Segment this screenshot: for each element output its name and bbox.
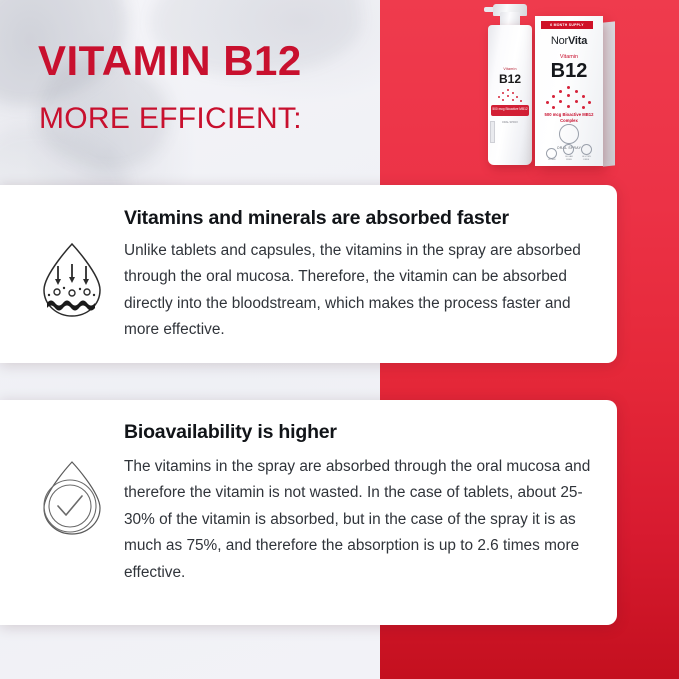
card-body-text: Unlike tablets and capsules, the vitamin…: [124, 238, 594, 344]
badge-gluten-free: GLUTEN FREE: [581, 144, 592, 163]
vegan-leaf-icon: [546, 148, 557, 159]
bottle-claim-band: 500 mcg Bioactive MB12: [491, 105, 529, 116]
card-body-text: The vitamins in the spray are absorbed t…: [124, 454, 594, 586]
infographic-canvas: VITAMIN B12 MORE EFFICIENT: Vitamin B12: [0, 0, 679, 679]
brand-logo: NorVita: [535, 35, 603, 47]
carton-strength-label: B12: [535, 61, 603, 81]
bottle-dot-pattern: [496, 89, 524, 103]
carton-dot-pattern: [545, 86, 593, 110]
sugar-free-icon: [563, 144, 574, 155]
certification-badges: VEGAN SUGAR FREE GLUTEN FREE: [543, 144, 595, 163]
droplet-absorption-icon: [36, 240, 108, 320]
bottle-vitamin-label: Vitamin: [488, 67, 532, 71]
oral-spray-seal-icon: [559, 124, 579, 144]
supply-banner: 6 MONTH SUPPLY: [541, 21, 593, 29]
carton-claim: 500 mcg Bioactive MB12 Complex: [541, 112, 597, 125]
card-heading: Bioavailability is higher: [124, 421, 337, 444]
droplet-check-icon: [36, 458, 108, 538]
card-heading: Vitamins and minerals are absorbed faste…: [124, 207, 509, 230]
carton-side-panel: [603, 21, 615, 166]
header-block: VITAMIN B12 MORE EFFICIENT:: [0, 0, 380, 185]
bottle-fine-print: ORAL SPRAY: [492, 120, 528, 126]
badge-sugar-free: SUGAR FREE: [563, 144, 574, 163]
gluten-free-icon: [581, 144, 592, 155]
spray-bottle: Vitamin B12 500 mcg Bioactive MB12 ORAL …: [488, 25, 532, 165]
product-photo: Vitamin B12 500 mcg Bioactive MB12 ORAL …: [380, 0, 679, 185]
page-subtitle: MORE EFFICIENT:: [39, 104, 302, 134]
badge-vegan: VEGAN: [546, 148, 557, 163]
product-carton: 6 MONTH SUPPLY NorVita Vitamin B12 500 m…: [535, 16, 603, 166]
bottle-strength-label: B12: [488, 73, 532, 85]
page-title: VITAMIN B12: [38, 40, 302, 82]
